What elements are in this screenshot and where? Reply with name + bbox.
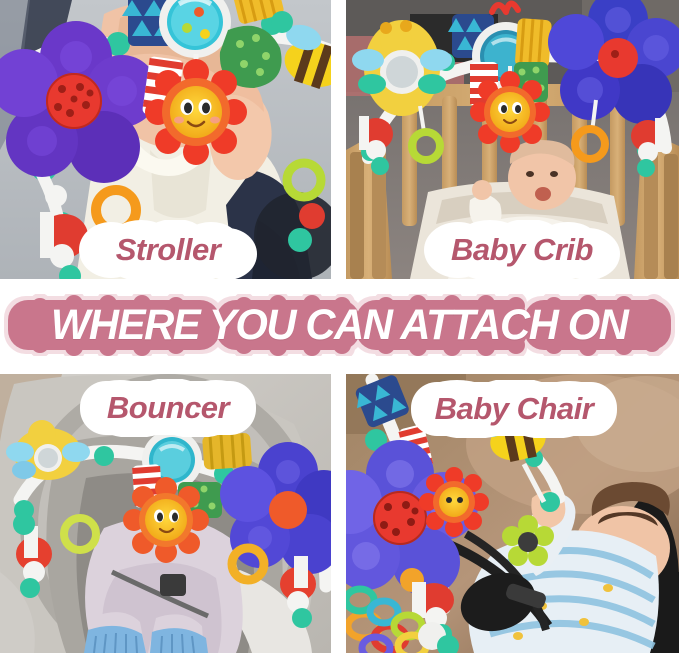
panel-stroller: Stroller — [0, 0, 331, 279]
label-text: Baby Crib — [451, 232, 593, 268]
panel-bouncer: Bouncer — [0, 374, 331, 653]
label-baby-crib: Baby Crib — [424, 220, 620, 279]
label-stroller: Stroller — [79, 220, 257, 279]
banner-text: WHERE YOU CAN ATTACH ON — [51, 301, 628, 350]
label-baby-chair: Baby Chair — [409, 380, 619, 438]
label-text: Baby Chair — [435, 391, 594, 427]
attach-banner: WHERE YOU CAN ATTACH ON — [4, 294, 675, 356]
label-text: Bouncer — [107, 390, 229, 426]
label-text: Stroller — [116, 232, 221, 268]
infographic-root: Stroller — [0, 0, 679, 653]
panel-baby-crib: Baby Crib — [346, 0, 679, 279]
panel-baby-chair: Baby Chair — [346, 374, 679, 653]
label-bouncer: Bouncer — [78, 379, 258, 437]
